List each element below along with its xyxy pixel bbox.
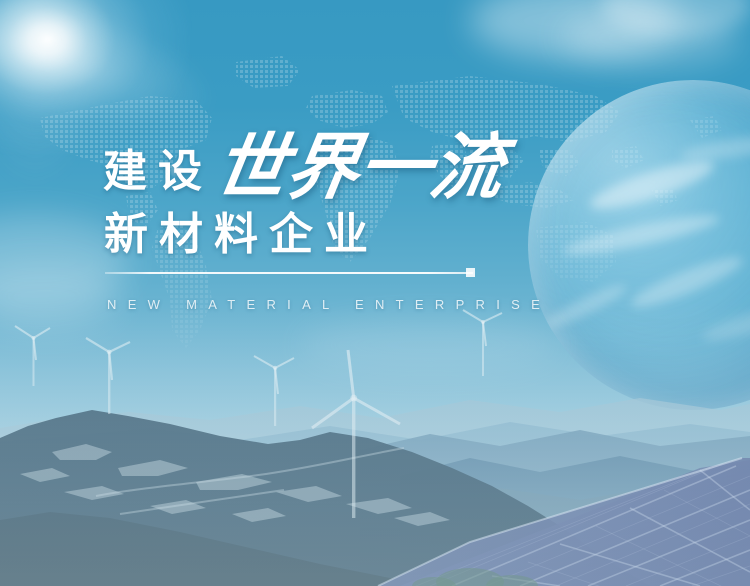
sun-flare-icon — [0, 0, 190, 155]
hero-banner: 建设 世界一流 新材料企业 NEW MATERIAL ENTERPRISE — [0, 0, 750, 586]
landscape-scene — [0, 300, 750, 586]
headline-prefix: 建设 — [103, 150, 213, 203]
headline-emphasis: 世界一流 — [210, 134, 509, 203]
divider-end-marker — [466, 268, 475, 277]
headline-secondary: 新材料企业 — [104, 213, 379, 257]
subtitle-english: NEW MATERIAL ENTERPRISE — [107, 297, 551, 312]
headline-divider — [105, 272, 473, 274]
headline-primary: 建设 世界一流 — [103, 134, 503, 203]
